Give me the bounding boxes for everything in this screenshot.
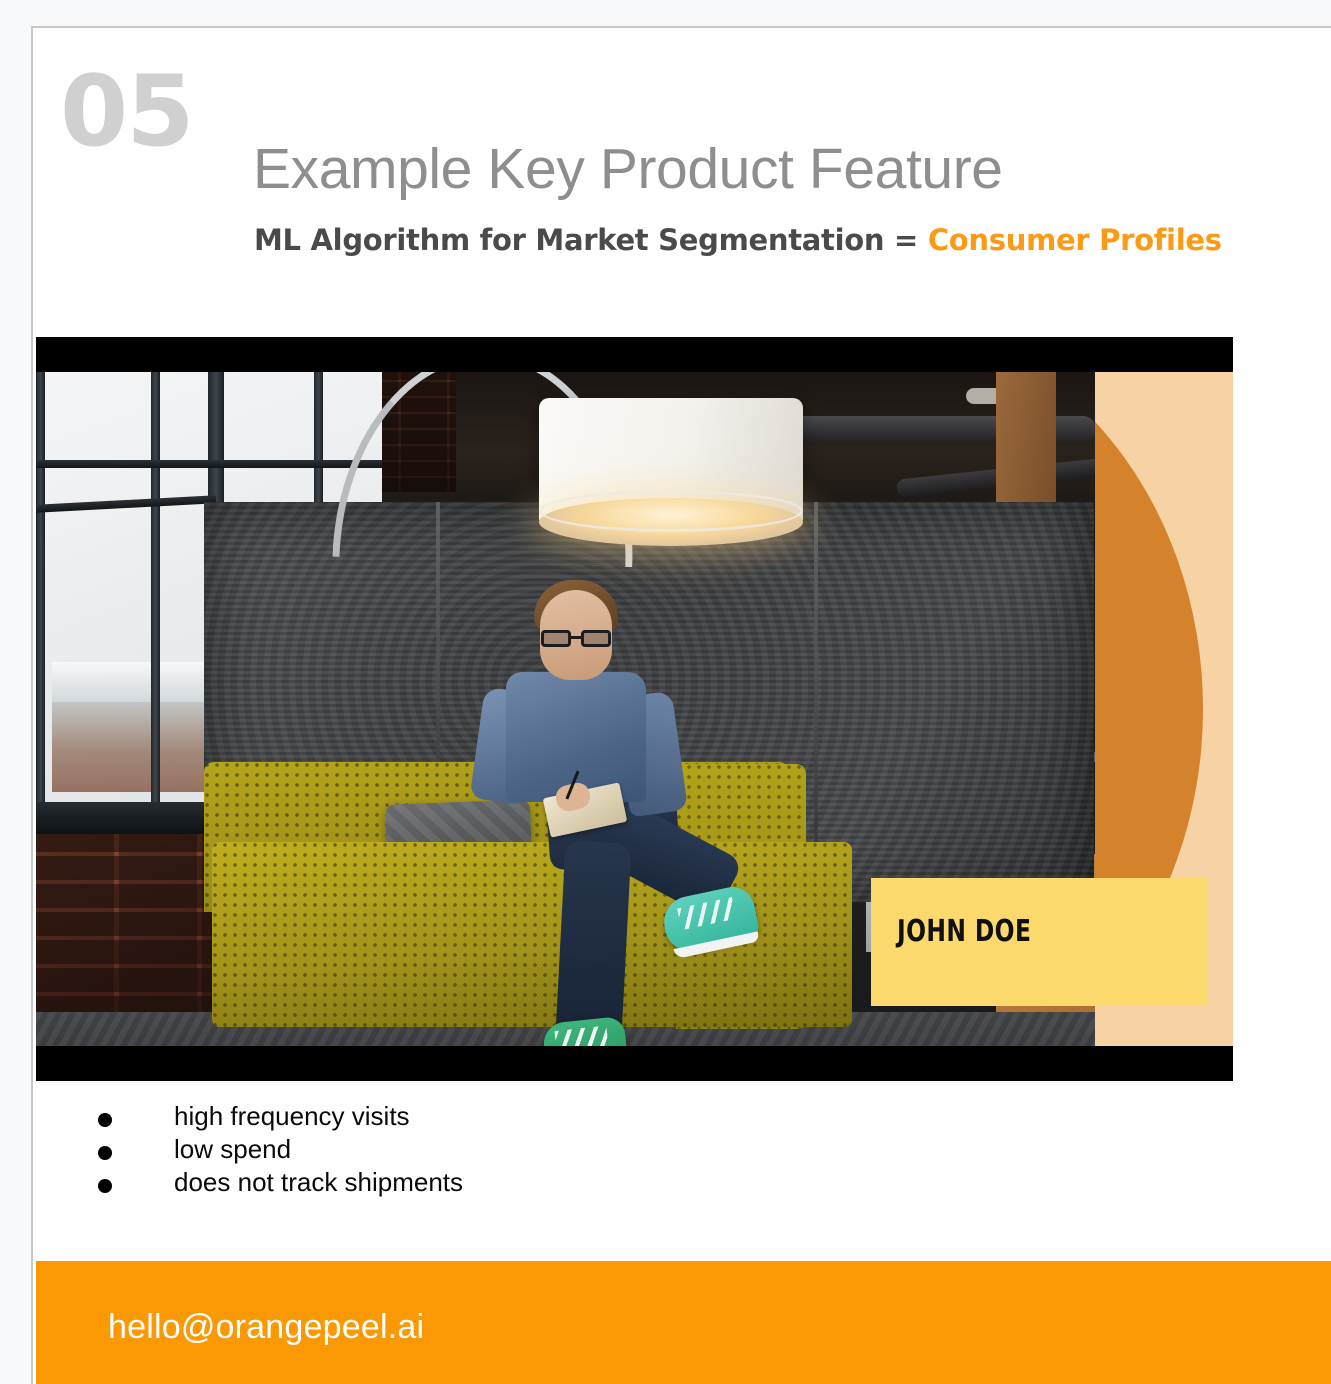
persona-name: JOHN DOE (897, 914, 1031, 949)
slide-canvas: 05 Example Key Product Feature ML Algori… (31, 26, 1331, 1384)
list-item-label: high frequency visits (174, 1103, 410, 1129)
list-item: high frequency visits (98, 1103, 898, 1136)
list-item: does not track shipments (98, 1169, 898, 1202)
persona-name-card: JOHN DOE (871, 878, 1208, 1006)
page-subtitle: ML Algorithm for Market Segmentation = C… (254, 223, 1222, 257)
slide-header: 05 Example Key Product Feature ML Algori… (33, 28, 1331, 336)
subtitle-accent: Consumer Profiles (928, 223, 1222, 257)
list-item-label: does not track shipments (174, 1169, 463, 1195)
photo-window-mullion (151, 372, 160, 812)
photo-person-shin (554, 840, 631, 1046)
letterbox-top-bar (36, 337, 1233, 372)
photo-person-glasses (541, 630, 611, 647)
bullet-dot-icon (98, 1179, 112, 1193)
photo-window-transom (36, 495, 216, 512)
photo-window-mullion (36, 372, 45, 812)
list-item-label: low spend (174, 1136, 291, 1162)
subtitle-prefix: ML Algorithm for Market Segmentation = (254, 223, 928, 257)
slide-footer: hello@orangepeel.ai (36, 1261, 1331, 1384)
contact-email[interactable]: hello@orangepeel.ai (108, 1308, 424, 1347)
persona-media-block: JOHN DOE (36, 337, 1233, 1081)
bullet-dot-icon (98, 1113, 112, 1127)
photo-lamp-rim (539, 490, 803, 532)
bullet-dot-icon (98, 1146, 112, 1160)
section-number: 05 (60, 63, 192, 161)
page-title: Example Key Product Feature (253, 136, 1003, 202)
photo-window-transom (36, 460, 382, 468)
list-item: low spend (98, 1136, 898, 1169)
persona-trait-list: high frequency visits low spend does not… (98, 1103, 898, 1202)
letterbox-bottom-bar (36, 1046, 1233, 1081)
